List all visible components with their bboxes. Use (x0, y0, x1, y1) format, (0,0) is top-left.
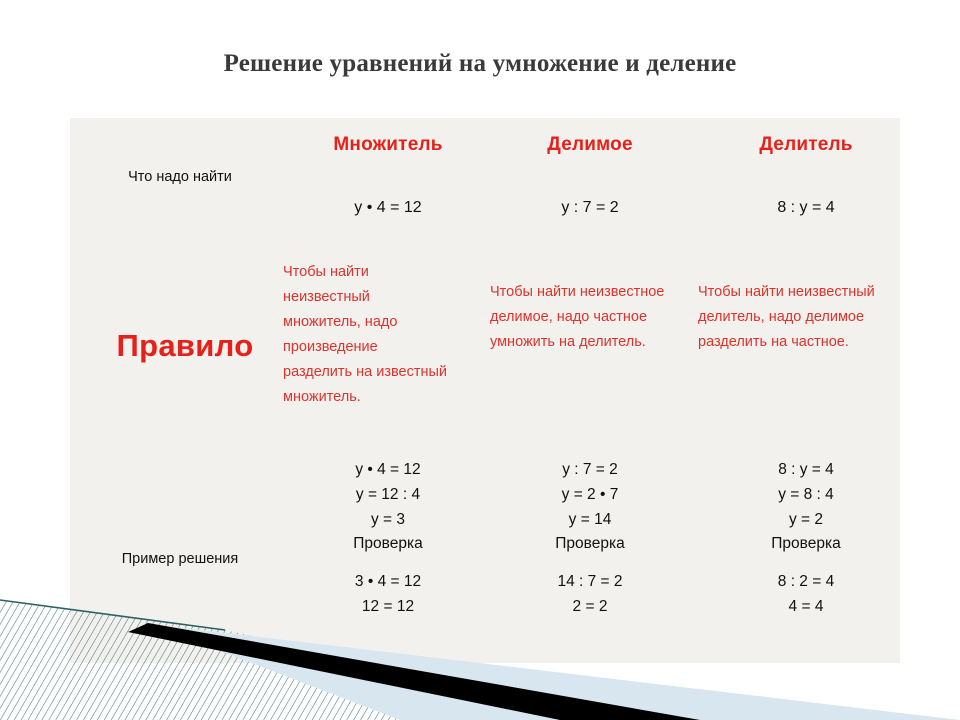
equation-what-to-find-mnozhitel: y • 4 = 12 (298, 196, 478, 219)
spacer (716, 557, 896, 570)
slide-canvas: Решение уравнений на умножение и деление… (0, 0, 960, 720)
solution-line: y • 4 = 12 (355, 461, 420, 478)
rule-text-delimoe: Чтобы найти неизвестное делимое, надо ча… (490, 280, 670, 355)
solution-line: y = 2 (789, 511, 823, 528)
spacer (298, 557, 478, 570)
solution-line: y : 7 = 2 (562, 461, 618, 478)
row-label-example: Пример решения (80, 550, 280, 568)
solution-check-label: Проверка (771, 535, 840, 552)
solution-line: y = 3 (371, 511, 405, 528)
check-line: 2 = 2 (573, 598, 608, 615)
equation-what-to-find-delitel: 8 : y = 4 (716, 196, 896, 219)
row-label-what-to-find: Что надо найти (80, 168, 280, 186)
solution-line: y = 12 : 4 (356, 486, 420, 503)
row-label-rule: Правило (90, 328, 280, 364)
check-line: 3 • 4 = 12 (355, 573, 421, 590)
solution-line: 8 : y = 4 (778, 461, 834, 478)
page-title: Решение уравнений на умножение и деление (0, 50, 960, 78)
column-header-mnozhitel: Множитель (298, 134, 478, 156)
solution-check-label: Проверка (353, 535, 422, 552)
check-line: 12 = 12 (362, 598, 414, 615)
solution-line: y = 2 • 7 (562, 486, 619, 503)
equation-what-to-find-delimoe: y : 7 = 2 (500, 196, 680, 219)
spacer (500, 557, 680, 570)
example-solution-delitel: 8 : y = 4 y = 8 : 4 y = 2 Проверка 8 : 2… (716, 458, 896, 620)
check-line: 4 = 4 (789, 598, 824, 615)
lesson-table-panel: Множитель Делимое Делитель Что надо найт… (70, 118, 900, 663)
example-solution-delimoe: y : 7 = 2 y = 2 • 7 y = 14 Проверка 14 :… (500, 458, 680, 620)
example-solution-mnozhitel: y • 4 = 12 y = 12 : 4 y = 3 Проверка 3 •… (298, 458, 478, 620)
column-header-delimoe: Делимое (500, 134, 680, 156)
solution-check-label: Проверка (555, 535, 624, 552)
solution-line: y = 8 : 4 (778, 486, 834, 503)
check-line: 8 : 2 = 4 (778, 573, 834, 590)
rule-text-delitel: Чтобы найти неизвестный делитель, надо д… (698, 280, 888, 355)
column-header-delitel: Делитель (716, 134, 896, 156)
solution-line: y = 14 (569, 511, 612, 528)
rule-text-mnozhitel: Чтобы найти неизвестный множитель, надо … (283, 260, 448, 410)
check-line: 14 : 7 = 2 (557, 573, 622, 590)
